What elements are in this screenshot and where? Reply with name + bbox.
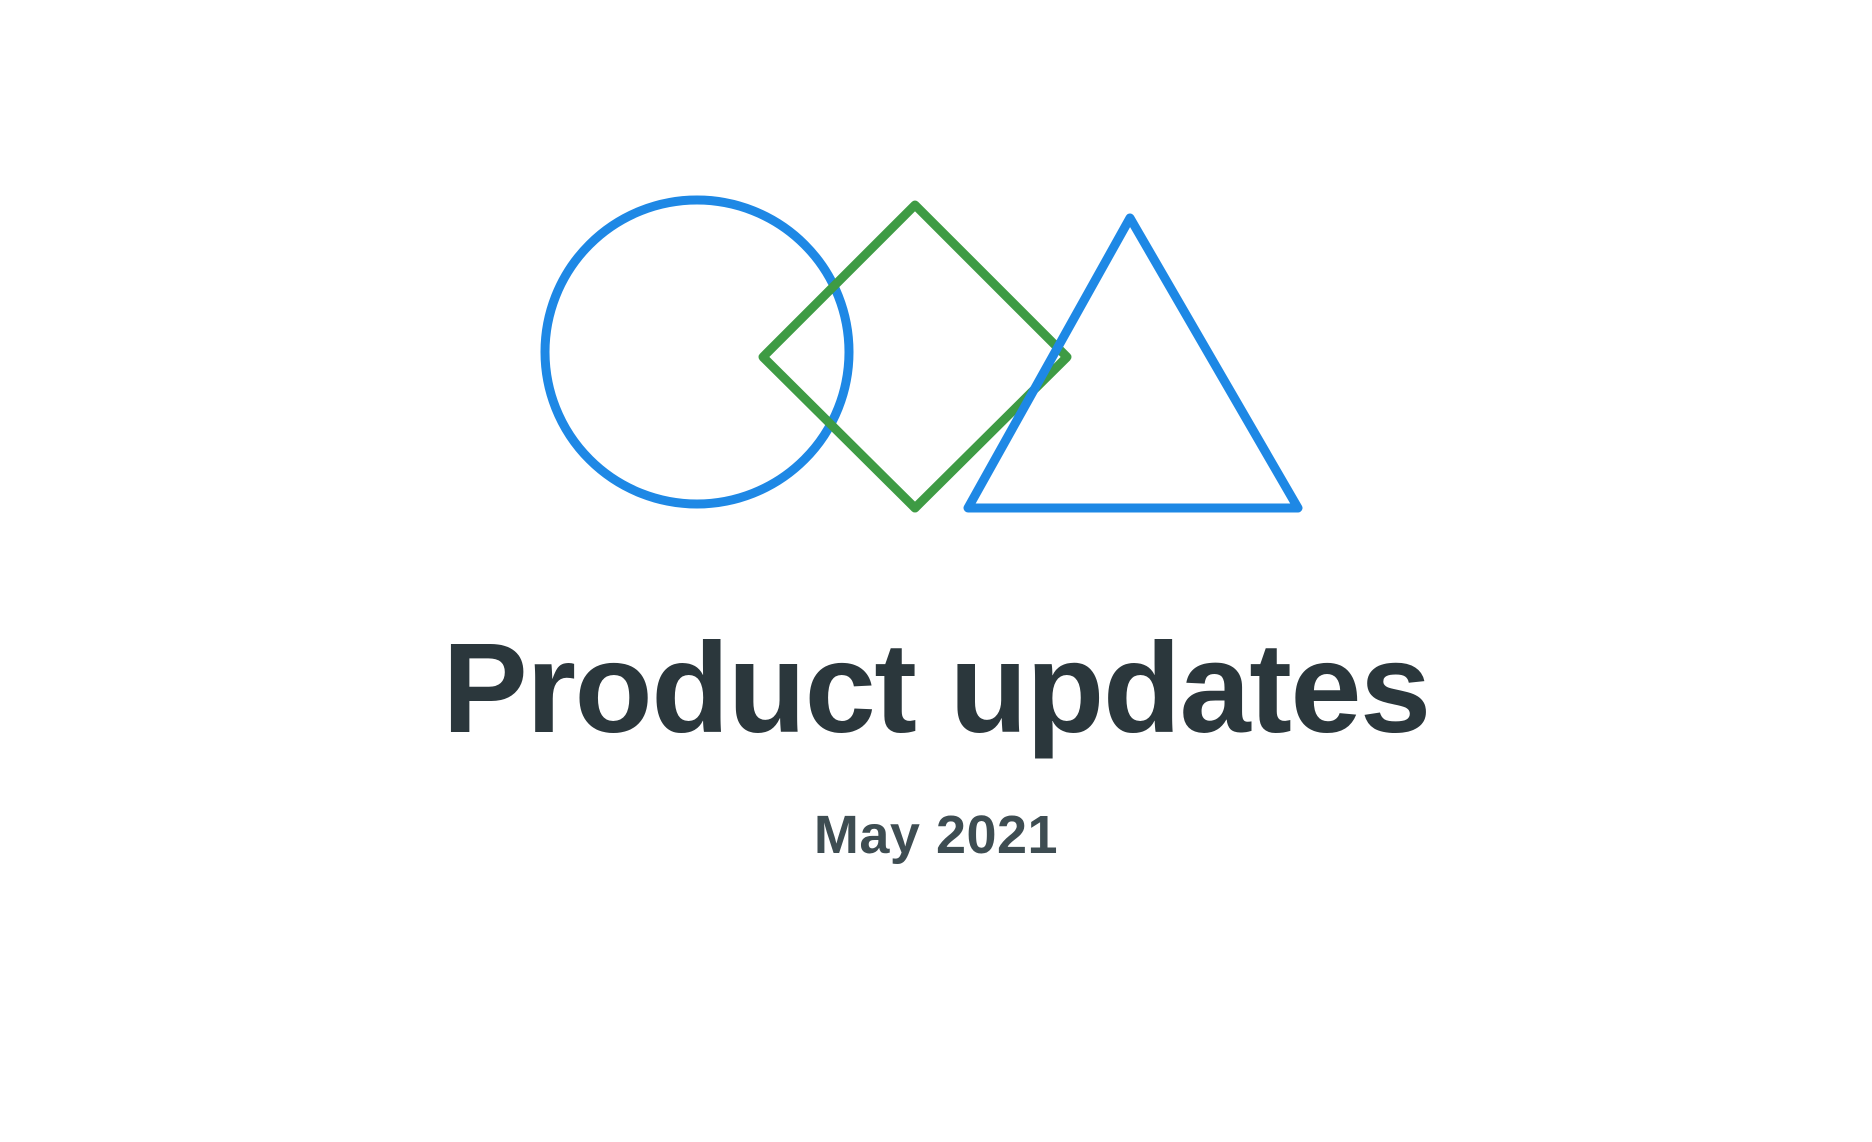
three-shapes-logo <box>0 0 1872 620</box>
logo-svg <box>0 0 1872 620</box>
page-subtitle: May 2021 <box>0 806 1872 865</box>
diamond-shape <box>763 205 1067 508</box>
product-updates-slide: Product updates May 2021 <box>0 0 1872 1142</box>
circle-shape <box>545 200 849 504</box>
page-title: Product updates <box>0 620 1872 758</box>
triangle-shape <box>968 218 1298 508</box>
title-block: Product updates May 2021 <box>0 620 1872 866</box>
